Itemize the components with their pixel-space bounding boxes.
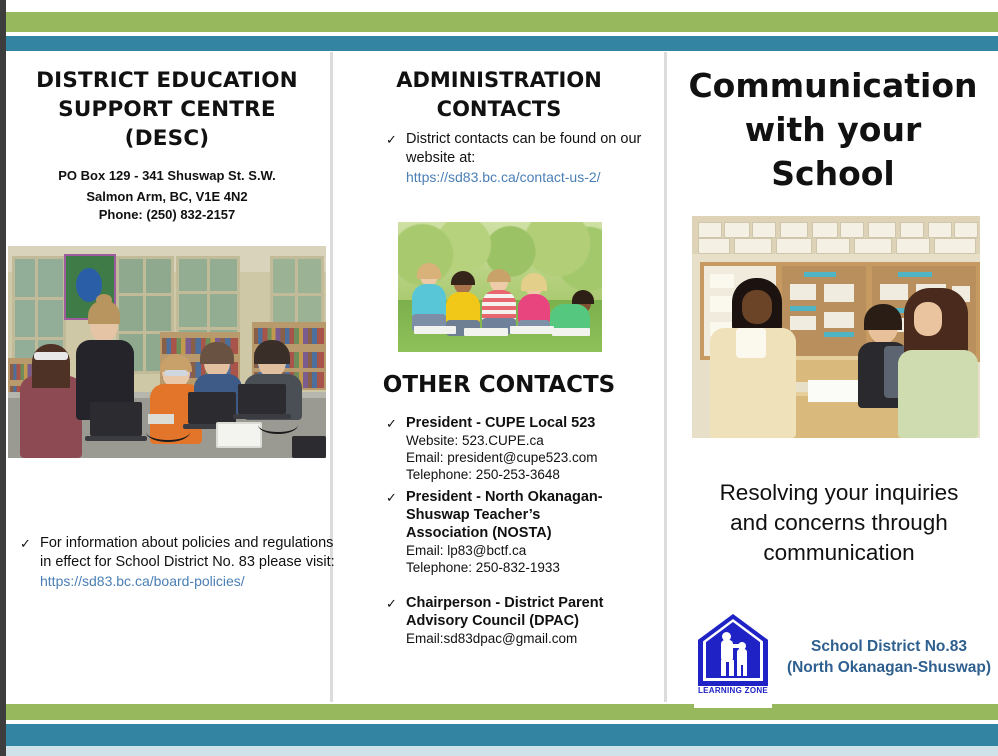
tagline-line2: and concerns through — [676, 508, 998, 538]
policies-text: For information about policies and regul… — [40, 534, 340, 572]
desc-heading-line1: DISTRICT EDUCATION — [16, 66, 318, 95]
bottom-green-stripe — [0, 704, 998, 720]
brochure-tagline: Resolving your inquiries and concerns th… — [676, 478, 998, 568]
address-line1: PO Box 129 - 341 Shuswap St. S.W. — [6, 167, 328, 185]
check-icon: ✓ — [386, 414, 397, 433]
board-policies-link[interactable]: https://sd83.bc.ca/board-policies/ — [40, 572, 340, 591]
check-icon: ✓ — [386, 594, 397, 613]
admin-heading-line2: CONTACTS — [350, 95, 648, 124]
contact-nosta-title: President - North Okanagan-Shuswap Teach… — [406, 488, 616, 542]
left-edge-bar — [0, 0, 6, 756]
check-icon: ✓ — [386, 130, 397, 149]
contact-cupe-phone: Telephone: 250-253-3648 — [406, 466, 656, 483]
address-line2: Salmon Arm, BC, V1E 4N2 — [6, 188, 328, 206]
policies-bullet: ✓ For information about policies and reg… — [14, 534, 340, 591]
contact-dpac: ✓ Chairperson - District Parent Advisory… — [380, 594, 621, 647]
panel-divider-right — [664, 52, 667, 702]
contact-nosta-phone: Telephone: 250-832-1933 — [406, 559, 616, 576]
contact-cupe-website: Website: 523.CUPE.ca — [406, 432, 656, 449]
admin-heading-line1: ADMINISTRATION — [350, 66, 648, 95]
top-green-stripe — [0, 12, 998, 32]
school-district-name: School District No.83 (North Okanagan-Sh… — [786, 636, 992, 678]
desc-address: PO Box 129 - 341 Shuswap St. S.W. Salmon… — [6, 167, 328, 224]
children-reading-photo — [398, 222, 602, 352]
tagline-line1: Resolving your inquiries — [676, 478, 998, 508]
parent-teacher-meeting-photo — [692, 216, 980, 438]
check-icon: ✓ — [20, 534, 31, 553]
tagline-line3: communication — [676, 538, 998, 568]
library-photo — [8, 246, 326, 458]
district-line2: (North Okanagan-Shuswap) — [786, 657, 992, 678]
brochure-page: DISTRICT EDUCATION SUPPORT CENTRE (DESC)… — [0, 0, 998, 756]
brochure-title-line1: Communication — [678, 64, 988, 108]
check-icon: ✓ — [386, 488, 397, 507]
admin-contacts-bullet: ✓ District contacts can be found on our … — [380, 130, 646, 187]
contact-cupe: ✓ President - CUPE Local 523 Website: 52… — [380, 414, 656, 483]
desc-heading-line2: SUPPORT CENTRE (DESC) — [16, 95, 318, 153]
brochure-title-line2: with your School — [678, 108, 988, 196]
contact-nosta-email[interactable]: Email: lp83@bctf.ca — [406, 542, 616, 559]
contact-us-link[interactable]: https://sd83.bc.ca/contact-us-2/ — [406, 168, 646, 187]
admin-contacts-text: District contacts can be found on our we… — [406, 130, 646, 168]
administration-heading: ADMINISTRATION CONTACTS — [350, 66, 648, 124]
bottom-pale-stripe — [0, 746, 998, 756]
other-contacts-heading: OTHER CONTACTS — [336, 370, 662, 400]
learning-zone-label: LEARNING ZONE — [694, 686, 772, 695]
contact-nosta: ✓ President - North Okanagan-Shuswap Tea… — [380, 488, 616, 576]
contact-dpac-email[interactable]: Email:sd83dpac@gmail.com — [406, 630, 621, 647]
brochure-title: Communication with your School — [678, 64, 988, 196]
contact-cupe-title: President - CUPE Local 523 — [406, 414, 656, 432]
desc-heading: DISTRICT EDUCATION SUPPORT CENTRE (DESC) — [16, 66, 318, 153]
learning-zone-logo: LEARNING ZONE — [694, 612, 772, 708]
address-line3: Phone: (250) 832-2157 — [6, 206, 328, 224]
learning-zone-sign-icon — [698, 614, 768, 686]
district-line1: School District No.83 — [786, 636, 992, 657]
panel-divider-left — [330, 52, 333, 702]
contact-cupe-email[interactable]: Email: president@cupe523.com — [406, 449, 656, 466]
contact-dpac-title: Chairperson - District Parent Advisory C… — [406, 594, 621, 630]
top-teal-stripe — [0, 36, 998, 51]
bottom-teal-stripe — [0, 724, 998, 746]
